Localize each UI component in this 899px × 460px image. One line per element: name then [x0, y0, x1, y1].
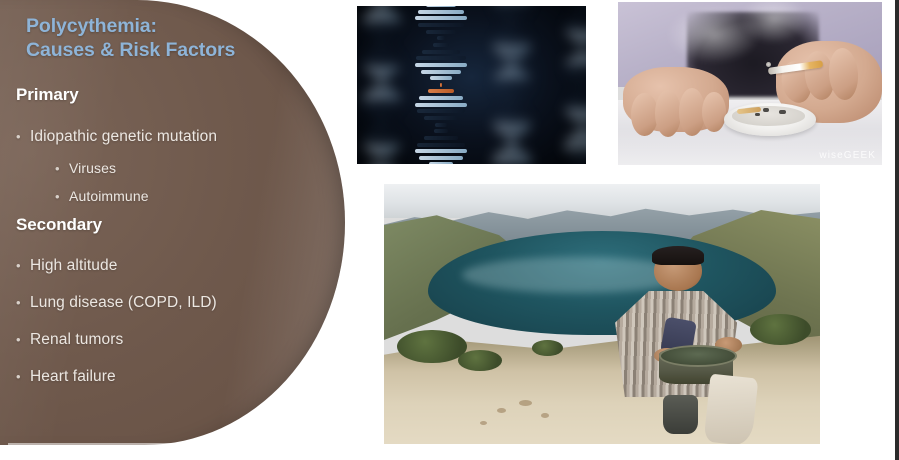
list-item: • Idiopathic genetic mutation: [16, 128, 217, 146]
list-item-label: Lung disease (COPD, ILD): [30, 294, 217, 312]
section-heading-primary: Primary: [16, 85, 79, 105]
title-line-2: Causes & Risk Factors: [26, 38, 306, 62]
bullet-icon: •: [16, 369, 30, 384]
list-item-label: Heart failure: [30, 368, 116, 386]
high-altitude-andes-photo: [384, 184, 820, 444]
dna-double-helix-photo: [357, 6, 586, 164]
list-item: • Renal tumors: [16, 331, 123, 349]
slide-canvas: Polycythemia: Causes & Risk Factors Prim…: [0, 0, 899, 460]
list-item: • Autoimmune: [55, 188, 149, 204]
list-item-label: High altitude: [30, 257, 117, 275]
list-item: • Heart failure: [16, 368, 116, 386]
viewport-right-border: [895, 0, 899, 460]
title-line-1: Polycythemia:: [26, 14, 306, 38]
list-item-label: Autoimmune: [69, 188, 149, 204]
bullet-icon: •: [16, 295, 30, 310]
section-heading-secondary: Secondary: [16, 215, 102, 235]
list-item: • Viruses: [55, 160, 116, 176]
bullet-icon: •: [55, 161, 69, 176]
bullet-icon: •: [16, 258, 30, 273]
bullet-icon: •: [16, 332, 30, 347]
smoking-hands-photo: wiseGEEK: [618, 2, 882, 165]
bullet-icon: •: [16, 129, 30, 144]
list-item-label: Viruses: [69, 160, 116, 176]
list-item: • Lung disease (COPD, ILD): [16, 294, 217, 312]
image-watermark: wiseGEEK: [819, 150, 876, 161]
list-item-label: Renal tumors: [30, 331, 123, 349]
panel-text-content: Polycythemia: Causes & Risk Factors Prim…: [0, 0, 330, 445]
bullet-icon: •: [55, 189, 69, 204]
list-item-label: Idiopathic genetic mutation: [30, 128, 217, 146]
page-title: Polycythemia: Causes & Risk Factors: [26, 14, 306, 62]
list-item: • High altitude: [16, 257, 117, 275]
